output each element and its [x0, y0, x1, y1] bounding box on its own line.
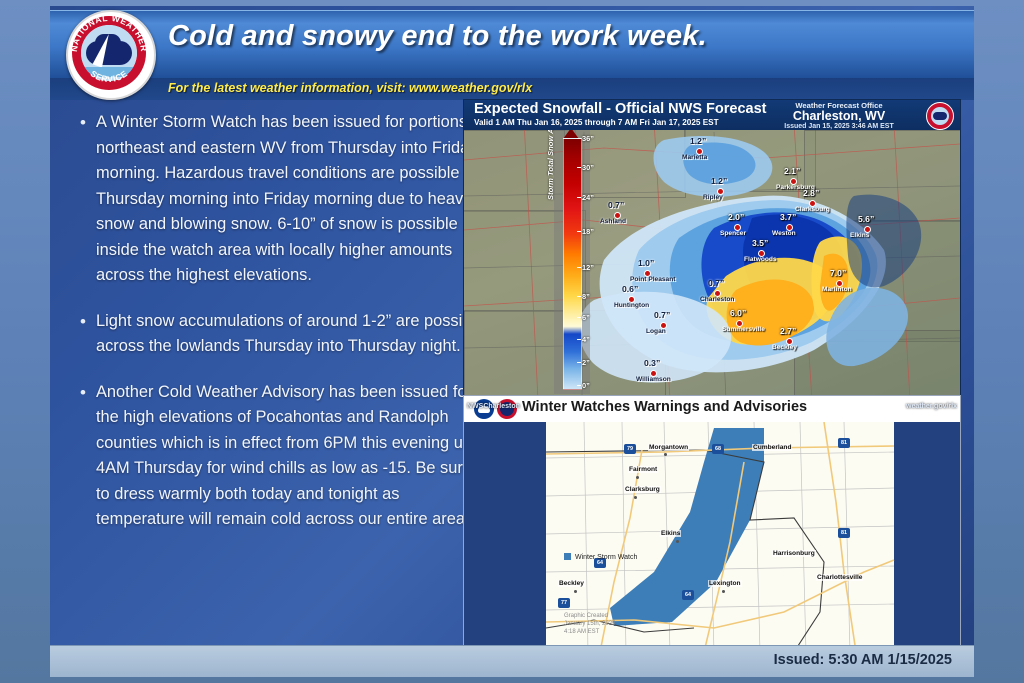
slide-footer: Issued: 5:30 AM 1/15/2025 [50, 645, 974, 677]
bullet-item: • Another Cold Weather Advisory has been… [70, 380, 488, 533]
map-point-city: Flatwoods [744, 256, 777, 263]
colorbar-tick: 2” [582, 358, 590, 367]
map-point-city: Clarksburg [795, 206, 830, 213]
map-point-city: Spencer [720, 230, 746, 237]
map-point-value: 2.0” [728, 212, 744, 222]
map-point-city: Weston [772, 230, 796, 237]
inset-map-canvas: Morgantown Cumberland Fairmont Clarksbur… [464, 422, 960, 652]
snow-amount-colorbar [563, 138, 582, 390]
snowfall-map-title: Expected Snowfall - Official NWS Forecas… [474, 101, 766, 117]
colorbar-tick: 36” [582, 134, 594, 143]
map-point-value: 1.2” [711, 176, 727, 186]
map-point-city: Marietta [682, 154, 707, 161]
inset-city-label: Lexington [708, 580, 742, 587]
page-title: Cold and snowy end to the work week. [168, 20, 868, 53]
colorbar-tick: 30” [582, 163, 594, 172]
inset-city-label: Morgantown [648, 444, 689, 451]
map-point-city: Elkins [850, 232, 869, 239]
header-subtitle-bar: For the latest weather information, visi… [50, 78, 974, 100]
footer-issued: Issued: 5:30 AM 1/15/2025 [774, 652, 952, 668]
inset-city-label: Charlottesville [816, 574, 863, 581]
map-point-value: 0.6” [622, 284, 638, 294]
highway-shield: 64 [682, 590, 694, 600]
colorbar-tick: 4” [582, 335, 590, 344]
bullet-marker: • [70, 309, 96, 360]
colorbar-tick: 12” [582, 263, 594, 272]
map-point-value: 0.7” [608, 200, 624, 210]
inset-city-label: Clarksburg [624, 486, 661, 493]
inset-credit: Graphic Created January 15th, 2025 4:18 … [564, 612, 615, 636]
snowfall-map-valid: Valid 1 AM Thu Jan 16, 2025 through 7 AM… [474, 118, 719, 127]
highway-shield: 77 [558, 598, 570, 608]
highway-shield: 68 [712, 444, 724, 454]
weather-forecast-office: Weather Forecast Office Charleston, WV I… [764, 101, 914, 130]
svg-text:SERVICE: SERVICE [89, 68, 130, 84]
map-issued: Issued Jan 15, 2025 3:46 AM EST [764, 123, 914, 130]
map-point-value: 0.7” [708, 278, 724, 288]
map-point-city: Ripley [703, 194, 723, 201]
map-watermark-right: weather.gov/rlx [906, 403, 957, 410]
nws-seal-logo: NATIONAL WEATHER SERVICE [66, 10, 156, 100]
map-point-city: Point Pleasant [630, 276, 675, 283]
office-name: Charleston, WV [764, 109, 914, 123]
screenshot-canvas: Cold and snowy end to the work week. For… [0, 0, 1024, 683]
colorbar-tick: 18” [582, 227, 594, 236]
bullet-item: • Light snow accumulations of around 1-2… [70, 309, 488, 360]
map-point-city: Huntington [614, 302, 649, 309]
slide: Cold and snowy end to the work week. For… [50, 6, 974, 677]
svg-text:NATIONAL WEATHER: NATIONAL WEATHER [69, 13, 149, 53]
bullet-text: A Winter Storm Watch has been issued for… [96, 110, 488, 289]
bullet-list: • A Winter Storm Watch has been issued f… [70, 110, 488, 553]
watch-swatch-icon [564, 553, 571, 560]
bullet-item: • A Winter Storm Watch has been issued f… [70, 110, 488, 289]
map-watermark-left: NWSCharleston [467, 403, 520, 410]
inset-city-label: Beckley [558, 580, 585, 587]
map-point-value: 2.8” [803, 188, 819, 198]
map-point-value: 3.7” [780, 212, 796, 222]
map-point-value: 0.3” [644, 358, 660, 368]
inset-city-label: Fairmont [628, 466, 658, 473]
inset-geography [464, 422, 960, 652]
map-point-value: 1.2” [690, 136, 706, 146]
map-point-value: 6.0” [730, 308, 746, 318]
inset-legend-label: Winter Storm Watch [575, 554, 637, 561]
slide-header: Cold and snowy end to the work week. [50, 10, 974, 80]
map-point-city: Charleston [700, 296, 734, 303]
bullet-text: Another Cold Weather Advisory has been i… [96, 380, 488, 533]
map-point-value: 2.1” [784, 166, 800, 176]
map-point-value: 2.7” [780, 326, 796, 336]
colorbar-tick: 0” [582, 381, 590, 390]
highway-shield: 81 [838, 438, 850, 448]
map-point-value: 5.6” [858, 214, 874, 224]
snowfall-map-header: Expected Snowfall - Official NWS Forecas… [464, 100, 960, 130]
map-point-value: 1.0” [638, 258, 654, 268]
inset-legend: Winter Storm Watch [564, 553, 637, 561]
bullet-marker: • [70, 110, 96, 289]
map-point-city: Ashland [600, 218, 626, 225]
bullet-marker: • [70, 380, 96, 533]
nws-small-seal-icon [926, 102, 954, 130]
highway-shield: 79 [624, 444, 636, 454]
map-point-city: Logan [646, 328, 666, 335]
highway-shield: 81 [838, 528, 850, 538]
map-point-city: Williamson [636, 376, 671, 383]
map-point-value: 3.5” [752, 238, 768, 248]
map-point-city: Beckley [772, 344, 797, 351]
inset-city-label: Cumberland [752, 444, 792, 451]
inset-city-label: Elkins [660, 530, 681, 537]
bullet-text: Light snow accumulations of around 1-2” … [96, 309, 488, 360]
winter-watches-inset-map: Morgantown Cumberland Fairmont Clarksbur… [463, 395, 961, 653]
map-point-value: 7.0” [830, 268, 846, 278]
map-point-city: Marlinton [822, 286, 852, 293]
seal-text: NATIONAL WEATHER SERVICE [68, 12, 150, 94]
colorbar-tick: 6” [582, 313, 590, 322]
map-point-value: 0.7” [654, 310, 670, 320]
colorbar-tick: 8” [582, 292, 590, 301]
inset-city-label: Harrisonburg [772, 550, 816, 557]
snowfall-shading [464, 100, 960, 412]
expected-snowfall-map: Storm Total Snow Amount (in) 36” 30” 24”… [463, 99, 961, 413]
header-subtitle: For the latest weather information, visi… [168, 81, 532, 95]
map-point-city: Summersville [722, 326, 765, 333]
colorbar-tick: 24” [582, 193, 594, 202]
